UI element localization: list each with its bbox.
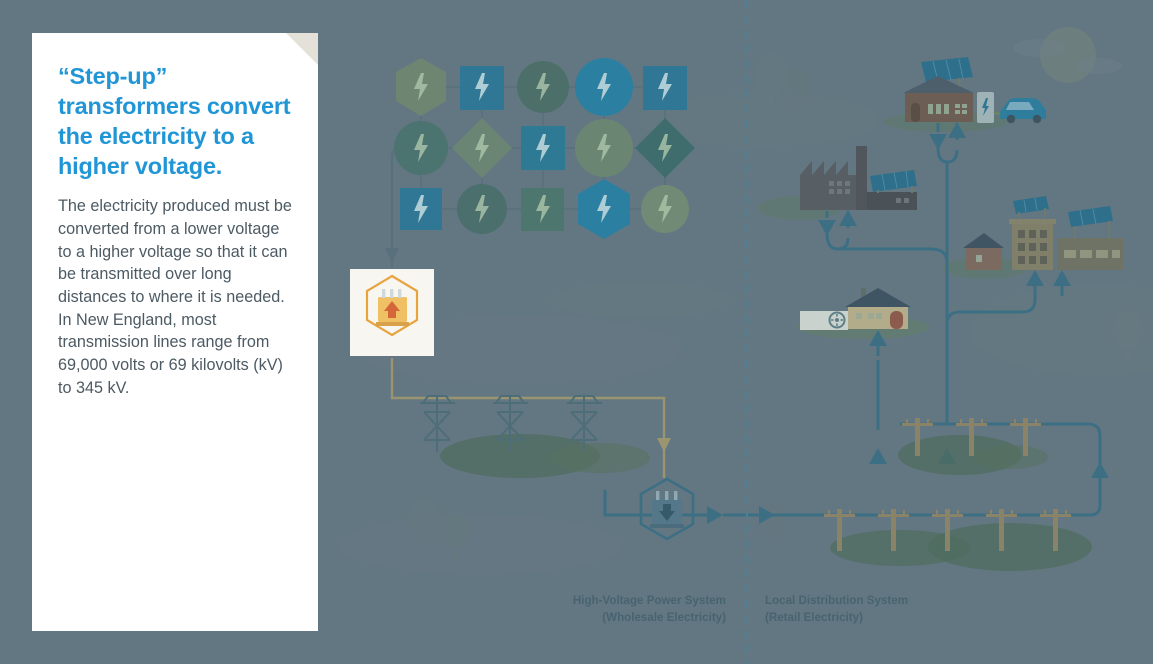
left-system-label-line2: (Wholesale Electricity) bbox=[470, 610, 726, 627]
page-title: “Step-up” transformers convert the elect… bbox=[58, 61, 292, 181]
left-system-label-line1: High-Voltage Power System bbox=[470, 593, 726, 610]
info-card-content: “Step-up” transformers convert the elect… bbox=[32, 33, 318, 399]
card-body-text: The electricity produced must be convert… bbox=[58, 195, 292, 399]
info-card: “Step-up” transformers convert the elect… bbox=[32, 33, 318, 631]
right-system-label-line1: Local Distribution System bbox=[765, 593, 1025, 610]
right-system-label: Local Distribution System (Retail Electr… bbox=[765, 593, 1025, 627]
infographic-stage: High-Voltage Power System (Wholesale Ele… bbox=[0, 0, 1153, 664]
right-system-label-line2: (Retail Electricity) bbox=[765, 610, 1025, 627]
left-system-label: High-Voltage Power System (Wholesale Ele… bbox=[470, 593, 726, 627]
